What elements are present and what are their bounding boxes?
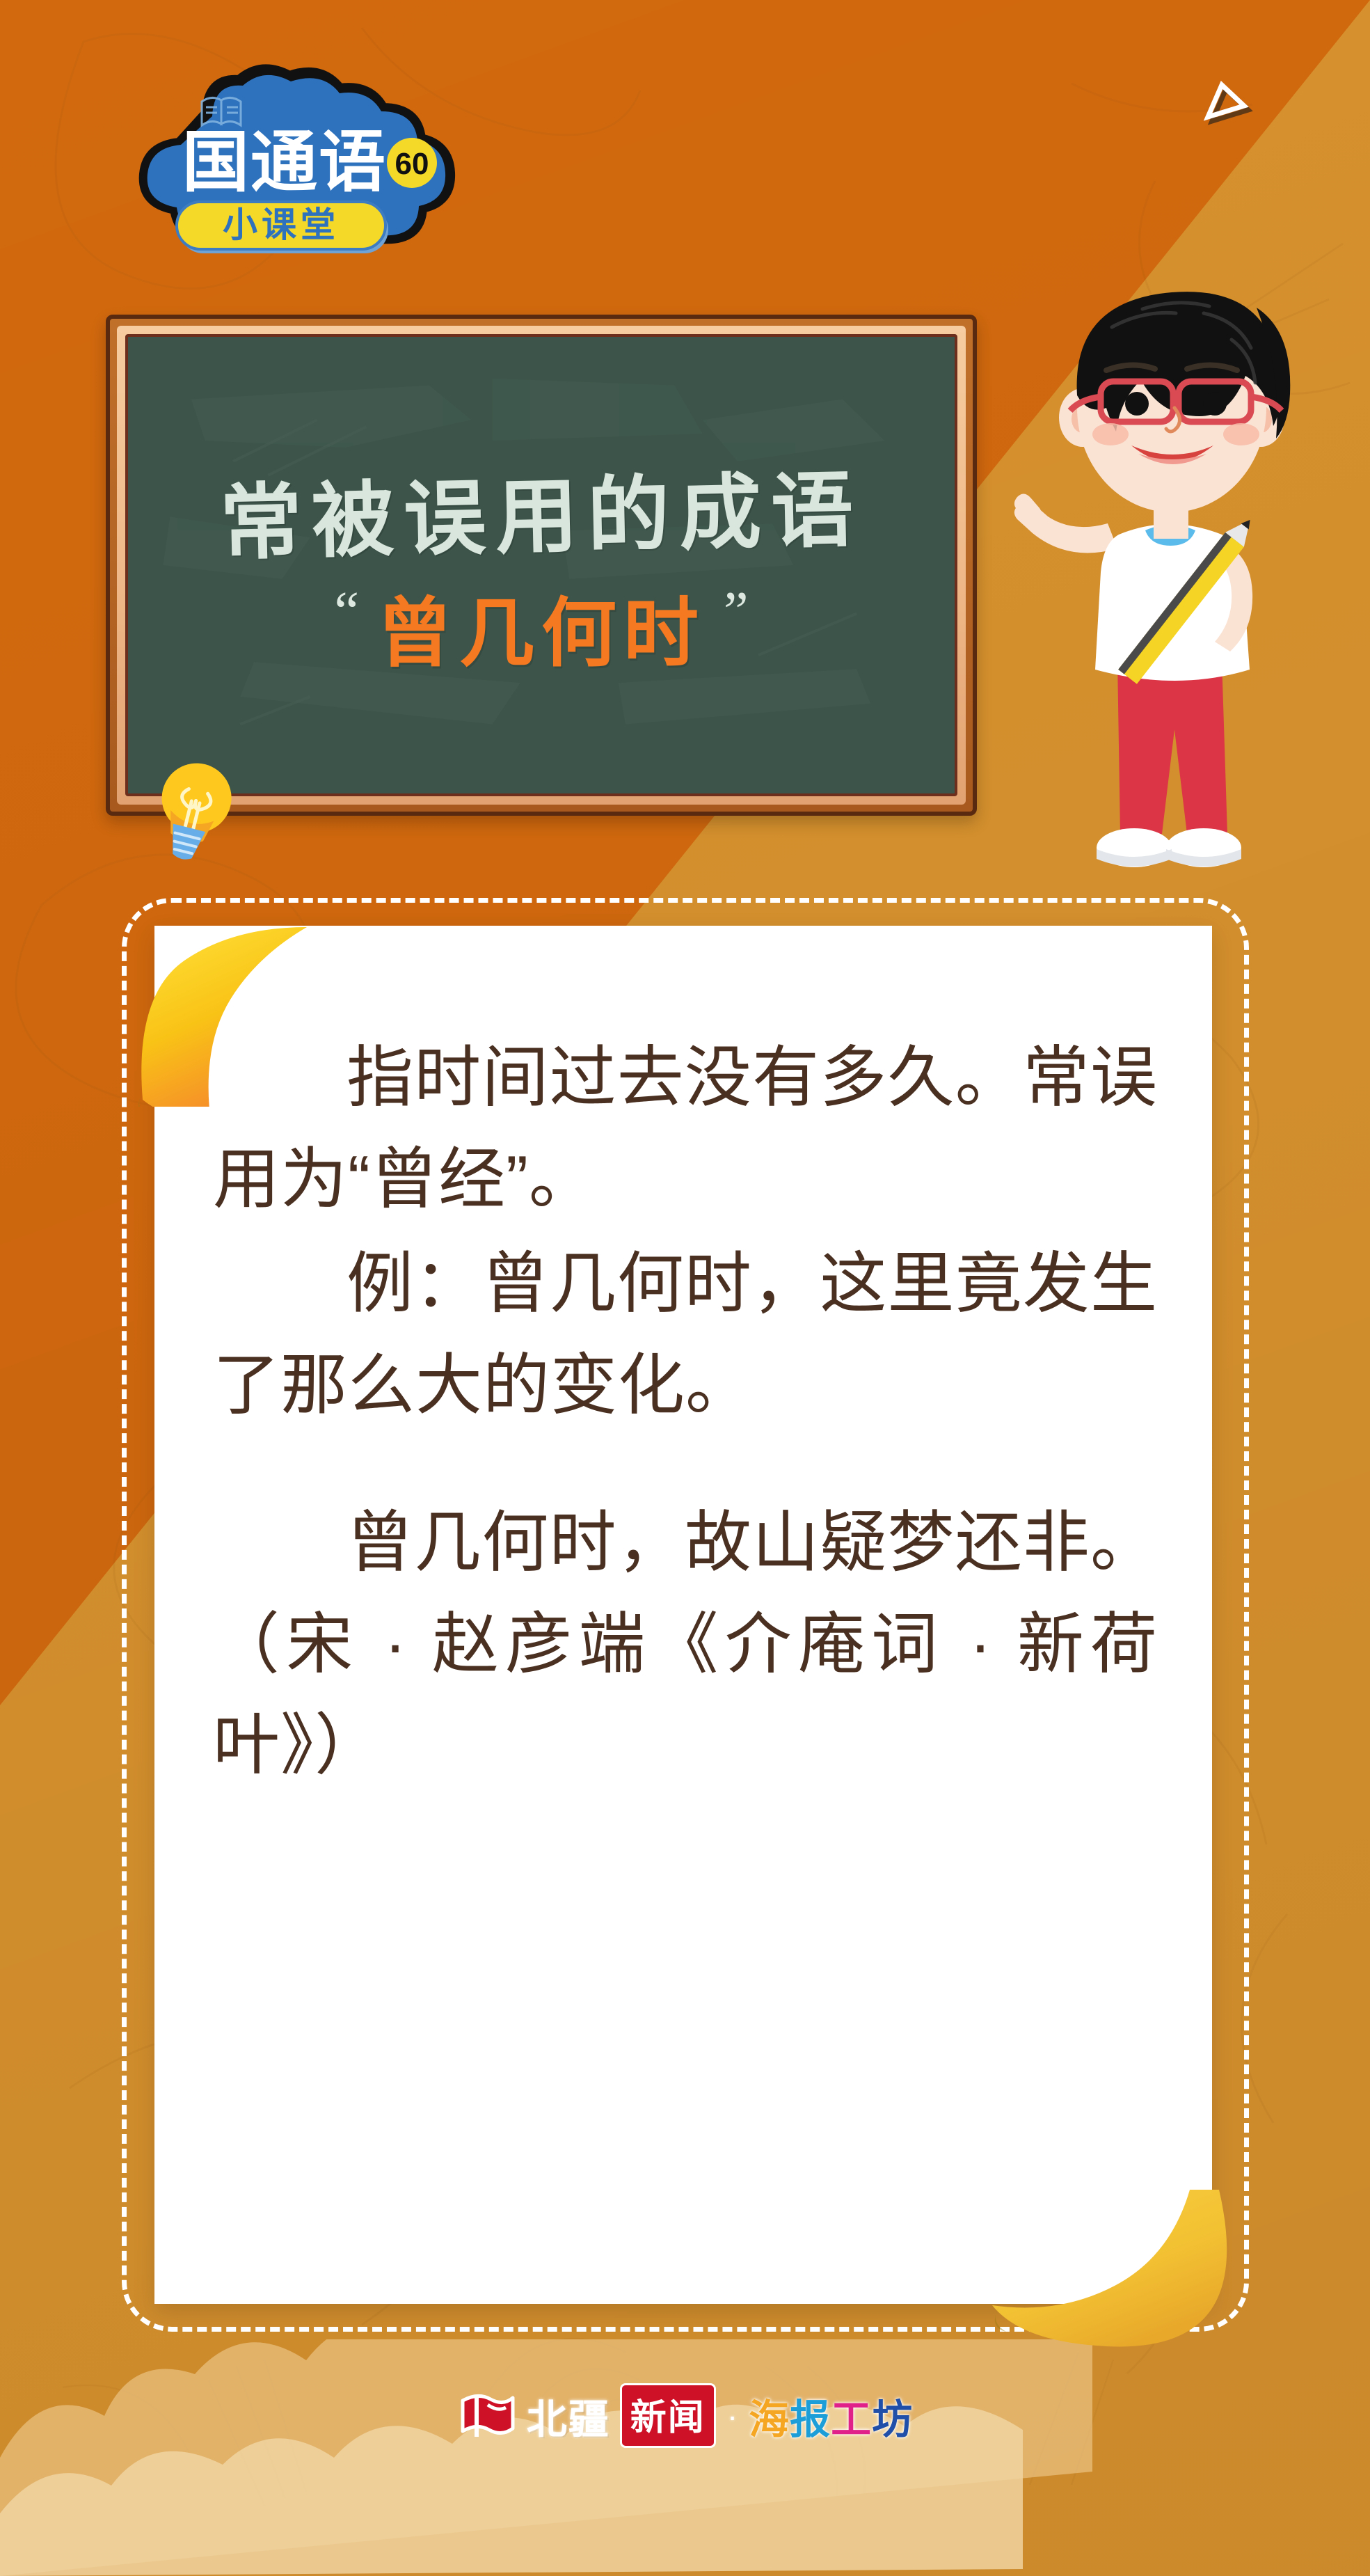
blackboard-idiom-line: “ 曾几何时 ”: [334, 573, 748, 681]
episode-badge-text: 60: [395, 147, 429, 181]
ribbon-fold-top-left: [129, 912, 310, 1107]
studio-name: 海报工坊: [749, 2387, 913, 2445]
beijiang-flag-icon: [457, 2391, 517, 2441]
studio-char-2: 报: [790, 2397, 831, 2442]
poster-canvas: 60 国通语 小课堂: [0, 0, 1370, 2576]
logo-subtitle-text: 小课堂: [223, 205, 340, 244]
publisher-name: 北疆: [527, 2387, 610, 2445]
studio-char-4: 坊: [872, 2397, 913, 2442]
blackboard-idiom: 曾几何时: [377, 573, 706, 681]
content-card: 指时间过去没有多久。常误用为“曾经”。 例：曾几何时，这里竟发生了那么大的变化。…: [154, 926, 1212, 2304]
definition-paragraph: 指时间过去没有多久。常误用为“曾经”。: [213, 1027, 1158, 1231]
studio-char-3: 工: [831, 2397, 872, 2442]
footer-separator: ·: [727, 2400, 738, 2432]
play-triangle-icon: [1198, 78, 1261, 141]
card-text-container: 指时间过去没有多久。常误用为“曾经”。 例：曾几何时，这里竟发生了那么大的变化。…: [154, 926, 1212, 2304]
blackboard-surface: 常被误用的成语 “ 曾几何时 ”: [125, 334, 957, 796]
bottom-cloud-decoration: [0, 2339, 1370, 2576]
quote-open-mark: “: [334, 584, 359, 640]
blackboard-title: 常被误用的成语: [218, 443, 863, 575]
boy-student-mascot: [995, 221, 1350, 910]
studio-char-1: 海: [749, 2397, 790, 2442]
news-badge: 新闻: [620, 2383, 716, 2448]
blackboard: 常被误用的成语 “ 曾几何时 ”: [106, 315, 977, 816]
logo-title-text: 国通语: [182, 125, 387, 200]
quote-close-mark: ”: [724, 584, 749, 640]
blackboard-text-block: 常被误用的成语 “ 曾几何时 ”: [128, 337, 955, 793]
ribbon-fold-bottom-right: [967, 2186, 1245, 2366]
blackboard-inner-frame: 常被误用的成语 “ 曾几何时 ”: [117, 326, 966, 805]
brand-logo[interactable]: 60 国通语 小课堂: [97, 61, 459, 270]
example-paragraph: 例：曾几何时，这里竟发生了那么大的变化。: [213, 1233, 1158, 1437]
footer-branding[interactable]: 北疆 新闻 · 海报工坊: [0, 2383, 1370, 2448]
citation-paragraph: 曾几何时，故山疑梦还非。（宋 · 赵彦端《介庵词 · 新荷叶》）: [213, 1492, 1158, 1797]
